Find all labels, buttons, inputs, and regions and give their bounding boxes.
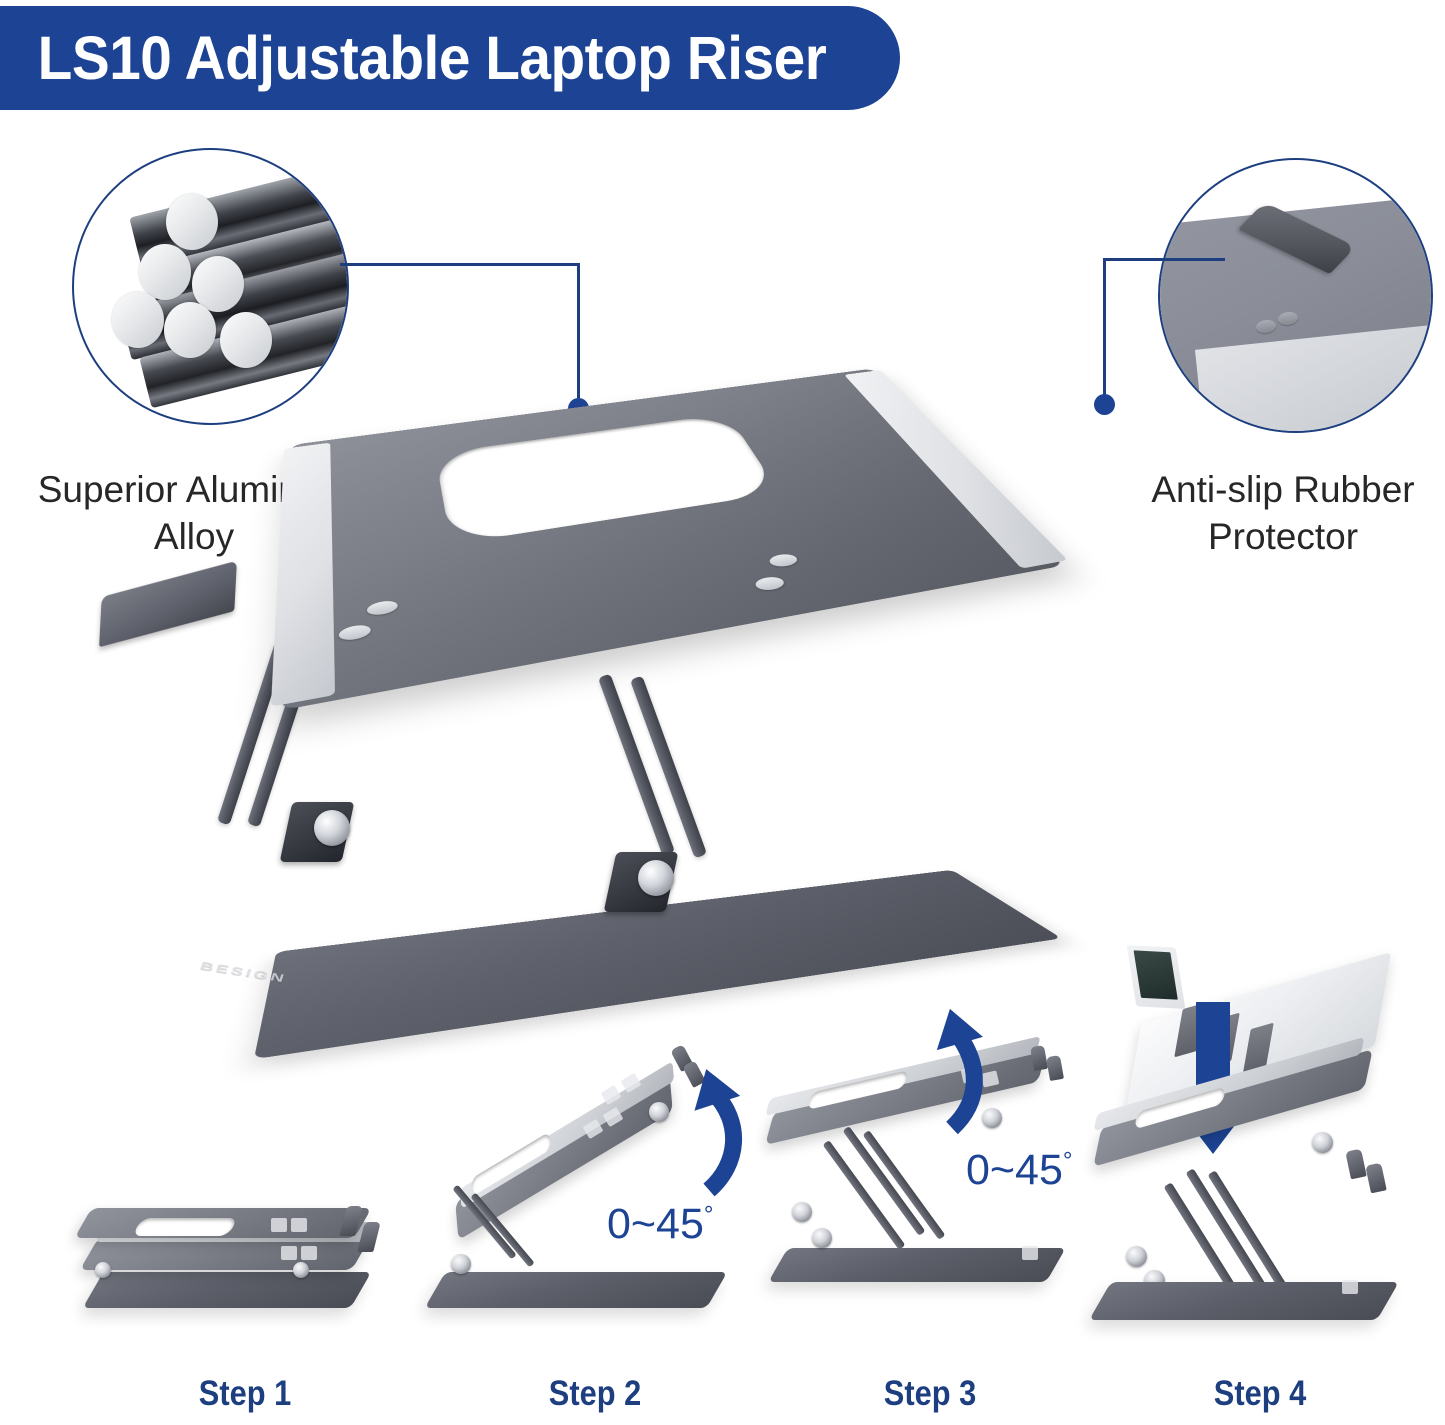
hero-adjust-knob <box>314 810 350 846</box>
step-3-illustration: 0~45° <box>760 950 1100 1365</box>
title-banner: LS10 Adjustable Laptop Riser <box>0 6 900 110</box>
feature-callout-rubber <box>1158 158 1433 433</box>
rotate-arrow-icon <box>643 1060 763 1200</box>
leader-line-right-horizontal <box>1103 258 1225 261</box>
step-4-illustration <box>1090 950 1430 1365</box>
leader-line-left-horizontal <box>340 263 580 266</box>
hero-plate-edge <box>271 443 335 707</box>
laptop-screen <box>1127 945 1186 1009</box>
step-2-label: Step 2 <box>445 1374 744 1414</box>
step-1-illustration <box>75 950 415 1365</box>
step-1-label: Step 1 <box>95 1374 394 1414</box>
hero-rubber-pad <box>367 599 399 617</box>
step-1: Step 1 <box>75 950 415 1420</box>
hero-adjust-knob <box>638 860 674 896</box>
step-2: 0~45° Step 2 <box>425 950 765 1420</box>
hero-rubber-pad <box>767 553 800 569</box>
hero-top-plate <box>279 368 1066 710</box>
hero-plate-edge <box>844 370 1068 569</box>
rubber-protector-photo <box>1160 160 1431 431</box>
hero-side-lip <box>99 561 237 648</box>
hero-rubber-pad <box>753 575 787 592</box>
page-title: LS10 Adjustable Laptop Riser <box>0 23 826 93</box>
rotate-arrow-icon <box>890 1002 1000 1142</box>
hero-plate-cutout <box>435 413 780 544</box>
step-3: 0~45° Step 3 <box>760 950 1100 1420</box>
step-4: Step 4 <box>1090 950 1430 1420</box>
hero-rubber-pad <box>339 623 371 642</box>
step-3-angle-annotation: 0~45° <box>966 1146 1072 1195</box>
step-2-illustration: 0~45° <box>425 950 765 1365</box>
step-4-label: Step 4 <box>1110 1374 1409 1414</box>
product-infographic: LS10 Adjustable Laptop Riser Superior Al… <box>0 0 1445 1425</box>
step-2-angle-annotation: 0~45° <box>607 1200 713 1249</box>
step-3-label: Step 3 <box>780 1374 1079 1414</box>
